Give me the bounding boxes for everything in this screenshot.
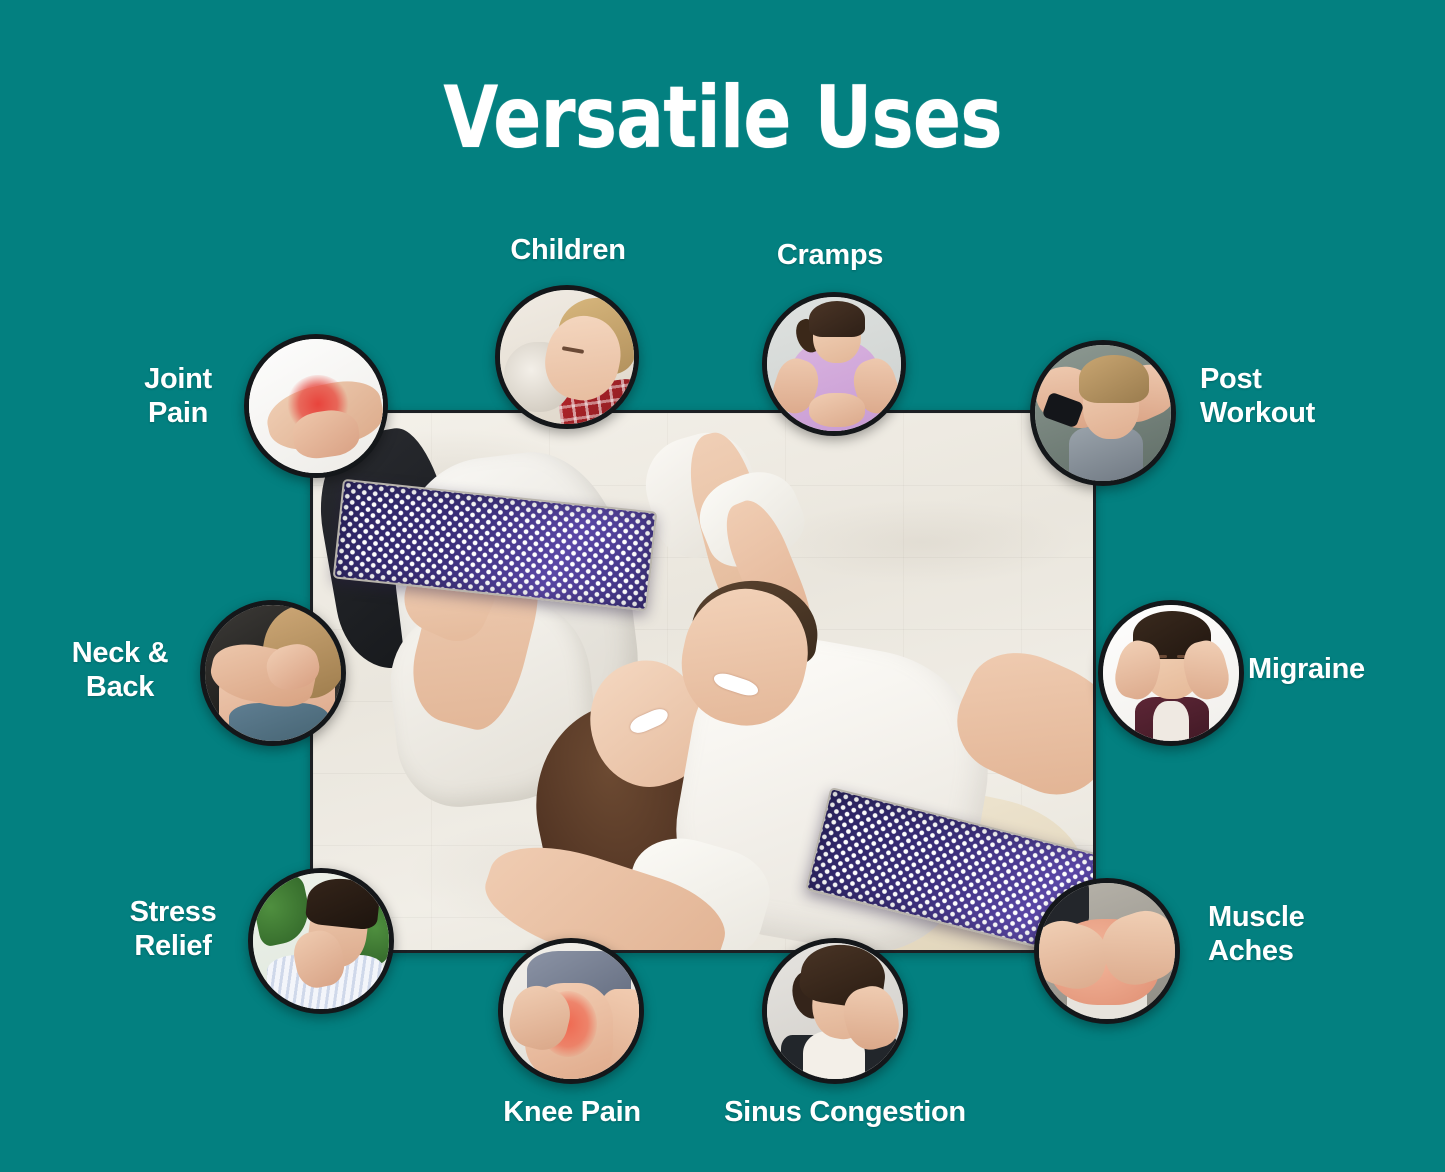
use-badge-muscle-aches[interactable] bbox=[1034, 878, 1180, 1024]
use-badge-knee-pain[interactable] bbox=[498, 938, 644, 1084]
use-label-migraine: Migraine bbox=[1248, 652, 1408, 686]
man-stress-relief-icon bbox=[253, 873, 389, 1009]
use-badge-neck-and-back[interactable] bbox=[200, 600, 346, 746]
use-label-cramps: Cramps bbox=[770, 238, 890, 272]
hero-product-photo bbox=[310, 410, 1096, 953]
use-label-children: Children bbox=[498, 233, 638, 267]
use-label-post-workout: Post Workout bbox=[1200, 362, 1350, 430]
use-badge-joint-pain[interactable] bbox=[244, 334, 388, 478]
use-label-sinus-congestion: Sinus Congestion bbox=[710, 1095, 980, 1129]
page-title: Versatile Uses bbox=[58, 68, 1387, 168]
use-badge-children[interactable] bbox=[495, 285, 639, 429]
use-label-joint-pain: Joint Pain bbox=[118, 362, 238, 430]
neck-and-back-pain-icon bbox=[205, 605, 341, 741]
woman-post-workout-icon bbox=[1035, 345, 1171, 481]
knee-pain-icon bbox=[503, 943, 639, 1079]
use-badge-sinus-congestion[interactable] bbox=[762, 938, 908, 1084]
shoulder-muscle-ache-icon bbox=[1039, 883, 1175, 1019]
use-badge-migraine[interactable] bbox=[1098, 600, 1244, 746]
woman-stomach-cramps-icon bbox=[767, 297, 901, 431]
use-badge-post-workout[interactable] bbox=[1030, 340, 1176, 486]
woman-migraine-headache-icon bbox=[1103, 605, 1239, 741]
use-label-muscle-aches: Muscle Aches bbox=[1208, 900, 1358, 968]
use-badge-cramps[interactable] bbox=[762, 292, 906, 436]
use-badge-stress-relief[interactable] bbox=[248, 868, 394, 1014]
use-label-knee-pain: Knee Pain bbox=[492, 1095, 652, 1129]
infographic-canvas: Versatile Uses bbox=[0, 0, 1445, 1172]
use-label-neck-and-back: Neck & Back bbox=[55, 636, 185, 704]
sinus-congestion-icon bbox=[767, 943, 903, 1079]
use-label-stress-relief: Stress Relief bbox=[108, 895, 238, 963]
child-sleeping-with-cat-icon bbox=[500, 290, 634, 424]
elbow-joint-pain-icon bbox=[249, 339, 383, 473]
